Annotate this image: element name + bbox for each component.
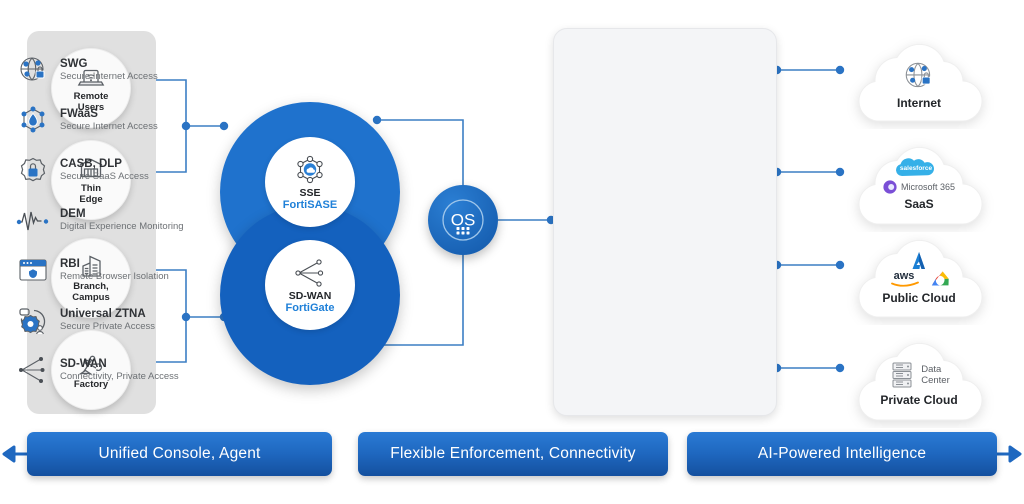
sdwan-fan-icon [16, 353, 50, 387]
globe-lock-icon [16, 53, 50, 87]
service-row-rbi[interactable]: RBI Remote Browser Isolation [16, 248, 212, 292]
sse-inner-badge[interactable]: SSE FortiSASE [265, 137, 355, 227]
left-arrow-icon [4, 447, 28, 461]
gear-lock-icon [16, 153, 50, 187]
svg-text:aws: aws [893, 270, 914, 282]
destination-cloud-public[interactable]: aws Public Cloud [843, 229, 995, 325]
cloud-label: Public Cloud [882, 291, 955, 305]
gear-user-icon [16, 303, 50, 337]
data-center-line2: Center [921, 375, 950, 386]
sse-product: FortiSASE [283, 199, 337, 212]
service-subtitle: Connectivity, Private Access [60, 371, 179, 383]
data-center-line1: Data [921, 364, 941, 375]
service-subtitle: Digital Experience Monitoring [60, 221, 184, 233]
azure-logo [908, 251, 930, 271]
service-row-sd-wan[interactable]: SD-WAN Connectivity, Private Access [16, 348, 212, 392]
sase-architecture-diagram: Remote Users Thin Edge [0, 0, 1024, 504]
service-row-casb-dlp[interactable]: CASB, DLP Secure SaaS Access [16, 148, 212, 192]
service-subtitle: Secure SaaS Access [60, 171, 149, 183]
svg-text:OS: OS [451, 210, 476, 229]
aws-logo: aws [888, 270, 922, 288]
sdwan-title: SD-WAN [289, 290, 332, 302]
globe-lock-icon [902, 59, 936, 93]
svg-text:salesforce: salesforce [900, 165, 933, 172]
service-title: Universal ZTNA [60, 307, 155, 321]
waveform-icon [16, 203, 50, 237]
service-title: DEM [60, 207, 184, 221]
service-row-dem[interactable]: DEM Digital Experience Monitoring [16, 198, 212, 242]
os-badge[interactable]: OS [428, 185, 498, 255]
salesforce-logo: salesforce [890, 157, 948, 179]
service-row-universal-ztna[interactable]: Universal ZTNA Secure Private Access [16, 298, 212, 342]
service-subtitle: Remote Browser Isolation [60, 271, 169, 283]
service-title: RBI [60, 257, 169, 271]
mesh-cloud-icon [293, 153, 327, 187]
security-services-panel [553, 28, 777, 416]
capability-bar-unified-console[interactable]: Unified Console, Agent [27, 432, 332, 476]
cloud-label: SaaS [904, 197, 933, 211]
service-row-swg[interactable]: SWG Secure Internet Access [16, 48, 212, 92]
mesh-flame-icon [16, 103, 50, 137]
service-title: SWG [60, 57, 158, 71]
cloud-label: Private Cloud [880, 393, 957, 407]
service-subtitle: Secure Internet Access [60, 71, 158, 83]
sse-title: SSE [299, 187, 320, 199]
right-arrow-icon [996, 447, 1020, 461]
google-cloud-logo [929, 269, 951, 288]
aws-and-gcp-logos: aws [888, 269, 951, 288]
sdwan-fan-icon [292, 256, 328, 290]
browser-shield-icon [16, 253, 50, 287]
sdwan-inner-badge[interactable]: SD-WAN FortiGate [265, 240, 355, 330]
os-grid-icon: OS [437, 194, 489, 246]
service-subtitle: Secure Internet Access [60, 121, 158, 133]
capability-bar-flexible-enforcement[interactable]: Flexible Enforcement, Connectivity [358, 432, 668, 476]
service-row-fwaas[interactable]: FWaaS Secure Internet Access [16, 98, 212, 142]
service-title: SD-WAN [60, 357, 179, 371]
service-title: FWaaS [60, 107, 158, 121]
capability-bar-label: Flexible Enforcement, Connectivity [390, 445, 635, 463]
service-title: CASB, DLP [60, 157, 149, 171]
destination-cloud-private[interactable]: Data Center Private Cloud [843, 332, 995, 428]
microsoft-365-logo: Microsoft 365 [883, 180, 955, 194]
capability-bar-label: AI-Powered Intelligence [758, 445, 926, 463]
destination-cloud-saas[interactable]: salesforce Microsoft 365 SaaS [843, 136, 995, 232]
data-center-icon: Data Center [888, 360, 950, 390]
sdwan-product: FortiGate [286, 302, 335, 315]
capability-bar-label: Unified Console, Agent [98, 445, 260, 463]
capability-bar-ai-powered[interactable]: AI-Powered Intelligence [687, 432, 997, 476]
cloud-label: Internet [897, 96, 941, 110]
destination-cloud-internet[interactable]: Internet [843, 33, 995, 129]
service-subtitle: Secure Private Access [60, 321, 155, 333]
